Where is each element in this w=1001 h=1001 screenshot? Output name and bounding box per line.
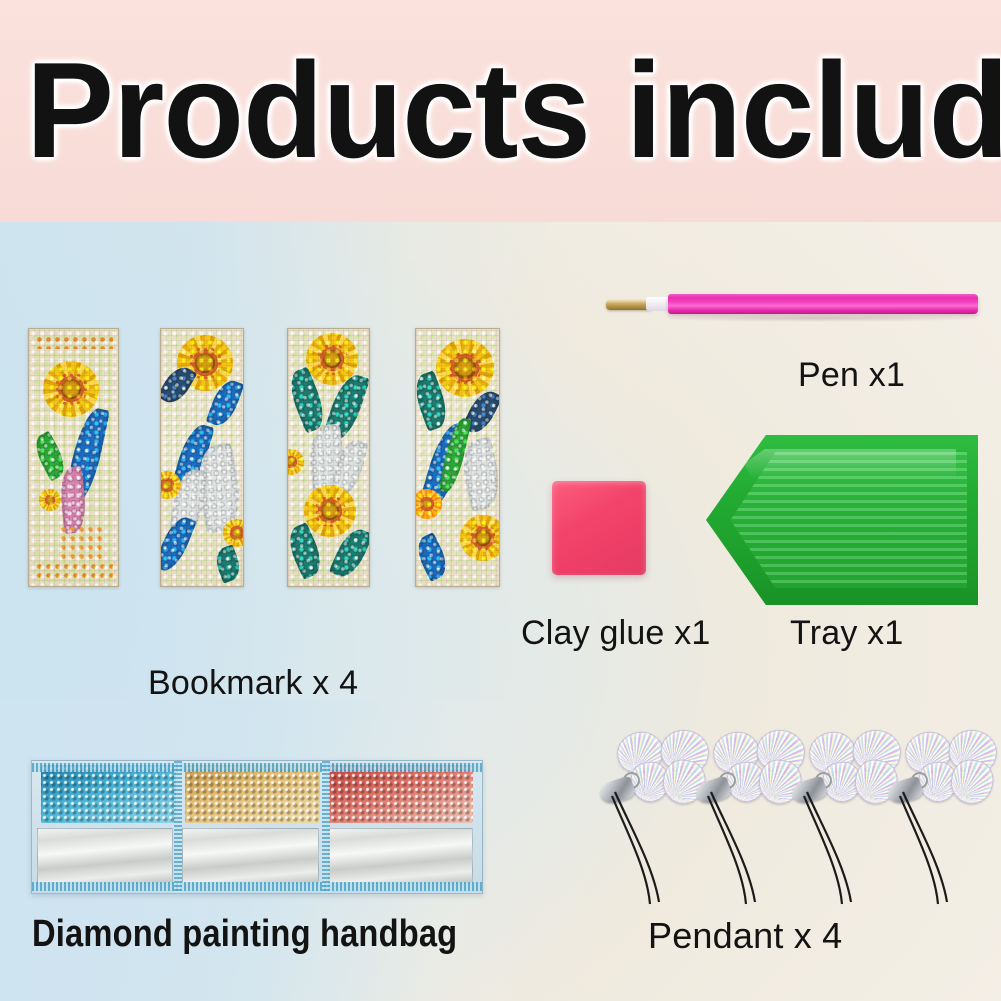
clay-glue-icon: [552, 481, 646, 575]
page-title: Products include: [26, 46, 948, 174]
gem-cell-blue: [41, 765, 176, 823]
bag-seam: [174, 761, 182, 893]
handbag-label: Diamond painting handbag: [32, 913, 457, 956]
drill-pen-icon: [600, 288, 985, 324]
bead-grid: [288, 329, 369, 586]
gem-cell-gold: [185, 765, 320, 823]
clay-glue-label: Clay glue x1: [521, 614, 711, 653]
foil-panel: [182, 828, 319, 884]
bookmark-item: [287, 328, 370, 587]
gem-cell-red: [329, 765, 473, 823]
pen-label: Pen x1: [798, 356, 905, 395]
header-banner: Products include: [0, 0, 1001, 222]
bead-grid: [416, 329, 499, 586]
bookmark-label: Bookmark x 4: [148, 664, 358, 703]
tray-label: Tray x1: [790, 614, 904, 653]
zip-seal-bottom: [32, 882, 482, 891]
zip-seal-top: [32, 763, 482, 772]
bookmark-item: [160, 328, 244, 587]
pendant-label: Pendant x 4: [648, 915, 842, 957]
handbag-foil-row: [37, 827, 478, 888]
foil-panel: [328, 828, 474, 884]
bag-seam: [322, 761, 330, 893]
pen-shadow: [660, 315, 980, 322]
bookmark-item: [28, 328, 119, 587]
bead-grid: [29, 329, 118, 586]
cord-loop: [885, 788, 1001, 906]
butterfly-pendant-icon: [885, 730, 1001, 905]
bead-grid: [161, 329, 243, 586]
handbag-icon: [31, 760, 483, 894]
product-include-infographic: Products include: [0, 0, 1001, 1001]
tray-highlight: [744, 449, 956, 480]
bookmark-item: [415, 328, 500, 587]
pen-body: [668, 294, 978, 314]
foil-panel: [37, 828, 174, 884]
